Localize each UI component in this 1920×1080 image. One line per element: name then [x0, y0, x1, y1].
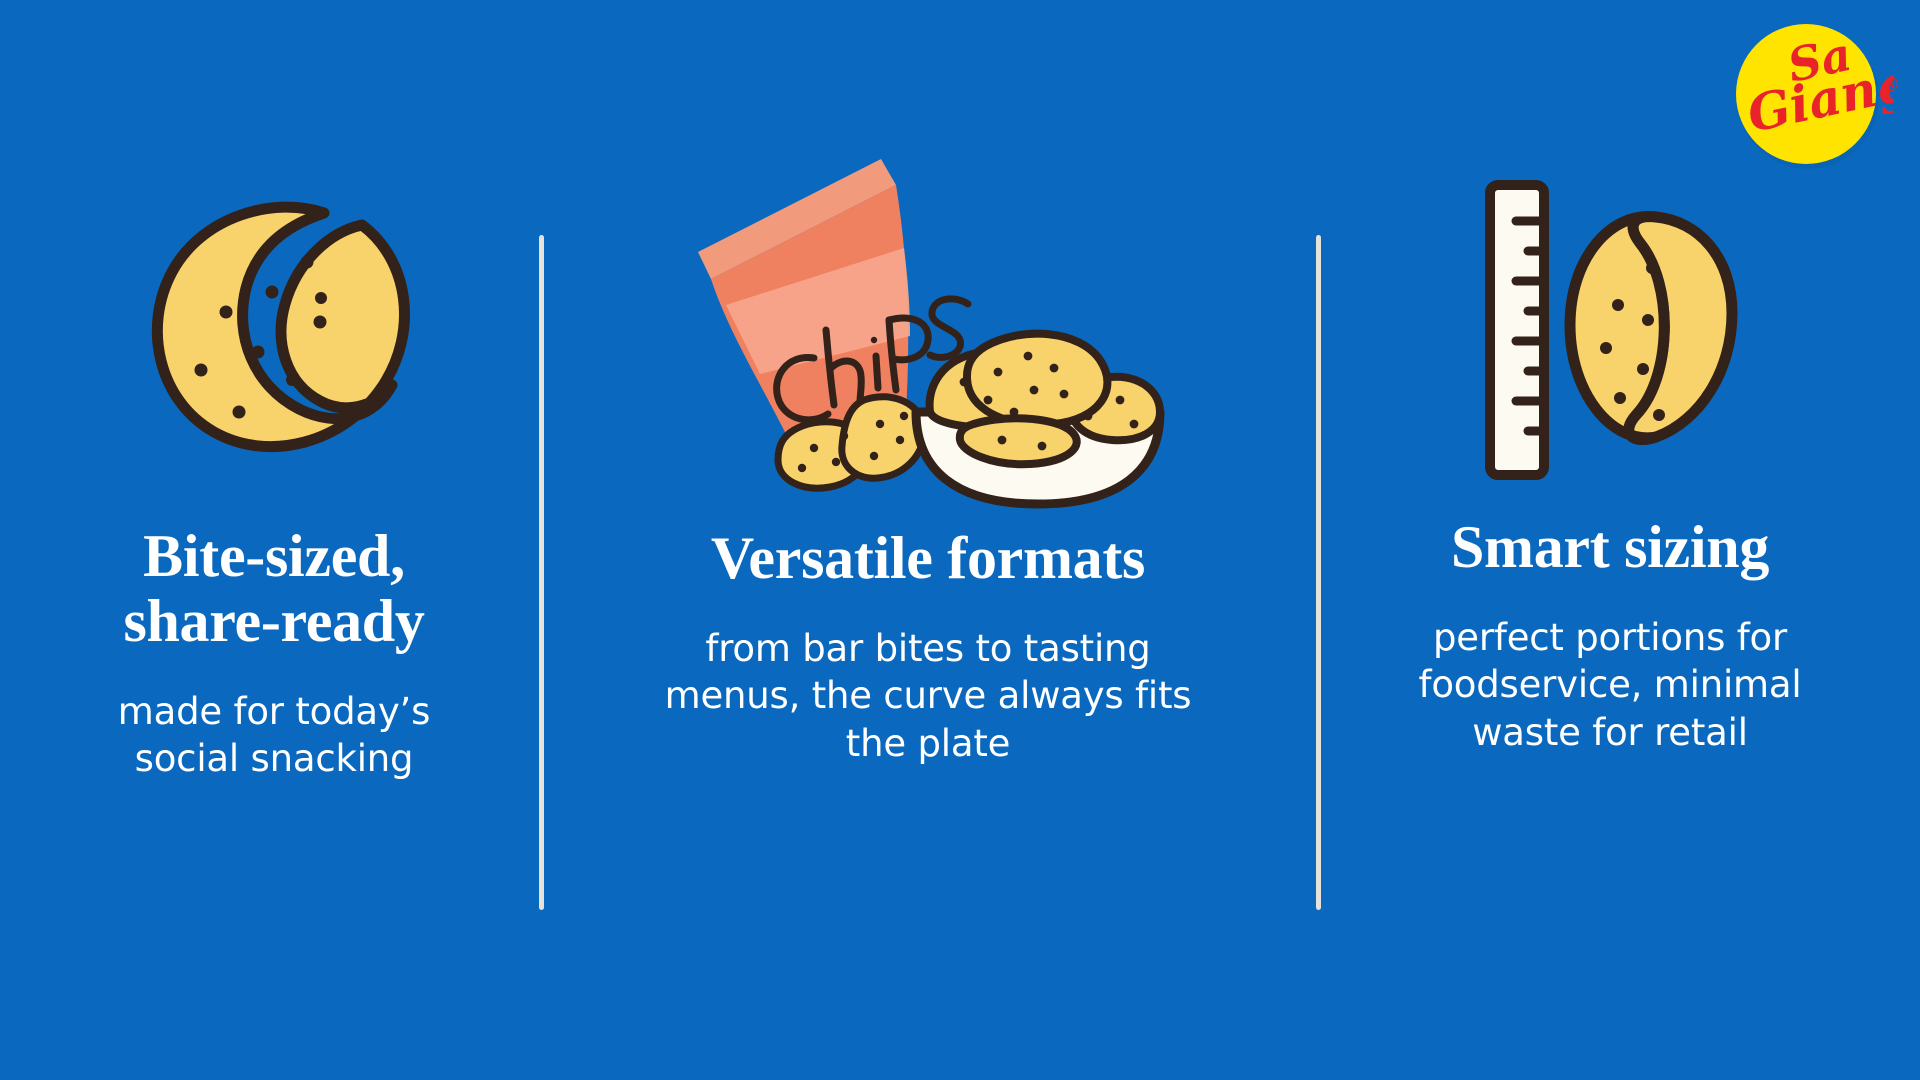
column-divider-2	[1316, 235, 1321, 910]
feature-column-smart-sizing: Smart sizing perfect portions for foodse…	[1330, 150, 1890, 756]
column-2-body-line2: menus, the curve always fits	[556, 672, 1300, 719]
registered-trademark-symbol: ®	[1884, 76, 1898, 95]
ruler	[1490, 185, 1544, 475]
column-3-body-line1: perfect portions for	[1330, 614, 1890, 661]
column-3-body-line3: waste for retail	[1330, 709, 1890, 756]
column-2-headline: Versatile formats	[556, 526, 1300, 591]
column-2-body-line1: from bar bites to tasting	[556, 625, 1300, 672]
column-1-body: made for today’s social snacking	[20, 688, 528, 783]
chip-bag-and-bowl-icon	[556, 150, 1300, 510]
chip-bag-and-bowl-svg	[668, 140, 1188, 510]
column-3-body: perfect portions for foodservice, minima…	[1330, 614, 1890, 756]
infographic-canvas: Sa Giang ®	[0, 0, 1920, 1080]
column-1-headline: Bite-sized, share-ready	[20, 524, 528, 654]
column-3-body-line2: foodservice, minimal	[1330, 661, 1890, 708]
column-3-headline: Smart sizing	[1330, 515, 1890, 580]
crescent-chip-svg	[124, 180, 424, 480]
ruler-and-chip-icon	[1330, 150, 1890, 495]
ruler-and-chip-svg	[1460, 165, 1760, 495]
column-2-body: from bar bites to tasting menus, the cur…	[556, 625, 1300, 767]
column-1-headline-line1: Bite-sized,	[20, 524, 528, 589]
column-1-body-line1: made for today’s	[20, 688, 528, 735]
column-divider-1	[539, 235, 544, 910]
crescent-chip	[1570, 216, 1732, 439]
crescent-chip-icon	[20, 150, 528, 480]
feature-column-bite-sized: Bite-sized, share-ready made for today’s…	[20, 150, 528, 782]
column-2-body-line3: the plate	[556, 720, 1300, 767]
column-3-headline-line1: Smart sizing	[1330, 515, 1890, 580]
column-2-headline-line1: Versatile formats	[556, 526, 1300, 591]
column-1-headline-line2: share-ready	[20, 589, 528, 654]
feature-column-versatile-formats: Versatile formats from bar bites to tast…	[556, 150, 1300, 767]
column-1-body-line2: social snacking	[20, 735, 528, 782]
